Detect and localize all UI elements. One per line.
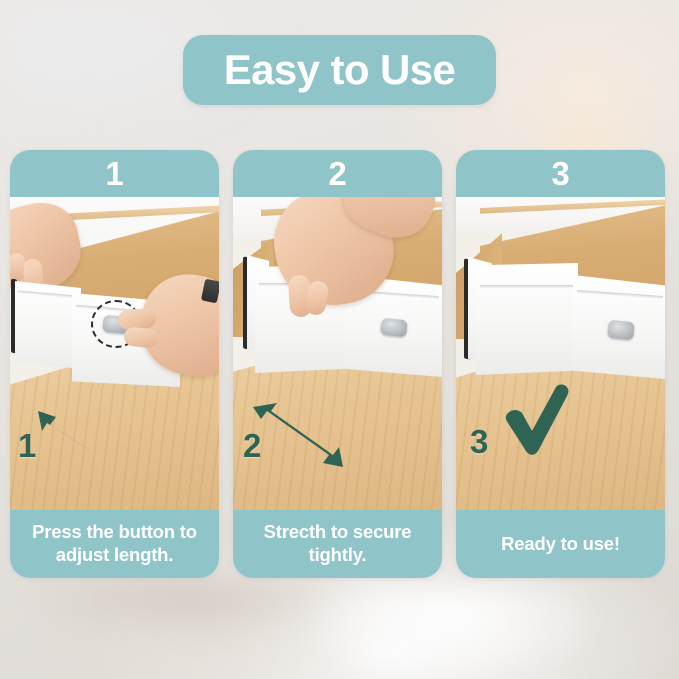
step-number-2: 2 [328,157,346,190]
step-photo-3: The white drawer divider installed and s… [456,197,665,533]
scene-1-wristwatch [201,279,219,304]
step-caption-3-text: Ready to use! [495,533,626,556]
page-title: Easy to Use [224,49,456,91]
checkmark-icon [502,383,574,459]
scene-3-divider-main [476,263,578,375]
scene-3-divider-main-groove [480,285,574,288]
infographic-canvas: Easy to Use 1 Two hands pressing the rel… [0,0,679,679]
step-photo-2: A hand pulling the white drawer divider … [233,197,442,533]
step-header-2: 2 [233,150,442,197]
step-number-3: 3 [551,157,569,190]
double-arrow-diagonal-icon [247,397,355,471]
annotation-number-2: 2 [243,429,261,462]
step-number-1: 1 [105,157,123,190]
step-caption-1: Press the button to adjust length. [10,510,219,578]
step-caption-2: Strecth to secure tightly. [233,510,442,578]
scene-3-release-button [607,320,635,341]
annotation-number-3: 3 [470,425,488,458]
step-panel-3: 3 The white drawer divider installed and… [456,150,665,578]
scene-1-hand-right-middle [123,326,159,348]
arrow-up-left-icon [28,405,100,457]
step-caption-3: Ready to use! [456,510,665,578]
annotation-number-1: 1 [18,429,36,462]
scene-2: 2 [233,197,442,533]
scene-2-release-button [380,318,408,338]
step-header-1: 1 [10,150,219,197]
scene-3: 3 [456,197,665,533]
title-banner: Easy to Use [183,35,496,105]
step-panel-2: 2 A hand pulling the white drawer divide… [233,150,442,578]
step-header-3: 3 [456,150,665,197]
step-caption-2-text: Strecth to secure tightly. [233,521,442,567]
step-panel-1: 1 Two hands pressing the release button … [10,150,219,578]
step-photo-1: Two hands pressing the release button on… [10,197,219,533]
scene-1: 1 [10,197,219,533]
step-caption-1-text: Press the button to adjust length. [10,521,219,567]
